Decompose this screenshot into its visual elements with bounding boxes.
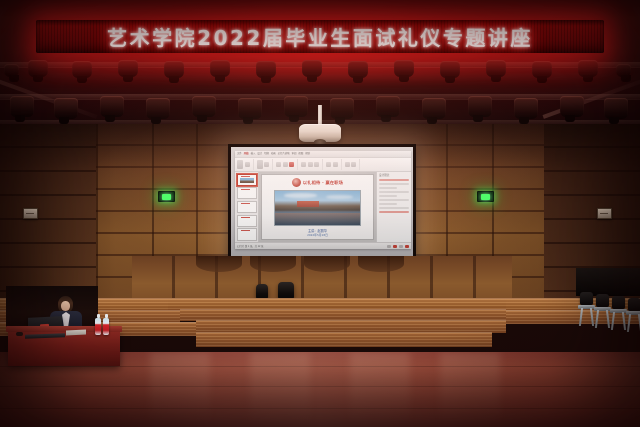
exit-sign-right xyxy=(477,191,494,202)
pane-item[interactable] xyxy=(379,199,409,201)
auditorium-scene: 艺术学院2022届毕业生面试礼仪专题讲座 文件 xyxy=(0,0,640,427)
stage-light-icon xyxy=(330,98,354,119)
stage-light-icon xyxy=(604,98,628,119)
slide-thumbnail[interactable] xyxy=(237,174,257,186)
floor-reflection xyxy=(440,352,500,427)
floor-reflection xyxy=(350,352,410,427)
stage-light-icon xyxy=(192,96,216,117)
tab-insert[interactable]: 插入 xyxy=(251,151,256,157)
cut-icon[interactable] xyxy=(245,162,250,167)
tab-slideshow[interactable]: 幻灯片放映 xyxy=(278,151,290,157)
pane-item[interactable] xyxy=(379,203,397,205)
tab-design[interactable]: 设计 xyxy=(257,151,262,157)
plate-slot xyxy=(26,213,34,214)
ribbon-group-font xyxy=(276,159,298,170)
slide-thumbnail[interactable] xyxy=(237,215,257,227)
floor-seam xyxy=(0,366,640,367)
stage-light-icon xyxy=(560,96,584,117)
stage-light-icon xyxy=(284,96,308,117)
thumbnail-title-line xyxy=(241,203,250,204)
find-icon[interactable] xyxy=(345,162,350,167)
ribbon-group-clipboard xyxy=(237,159,254,170)
stage-light-icon xyxy=(54,98,78,119)
thumbnail-title-line xyxy=(241,217,250,218)
stage-light-icon xyxy=(440,61,460,78)
chair[interactable] xyxy=(610,296,627,330)
new-slide-icon[interactable] xyxy=(257,160,263,169)
led-banner: 艺术学院2022届毕业生面试礼仪专题讲座 xyxy=(36,20,604,53)
thumbnail-title-line xyxy=(241,230,250,231)
thumbnail-image xyxy=(240,178,254,183)
stage-light-icon xyxy=(348,61,368,78)
slideshow-view-icon[interactable] xyxy=(393,245,397,248)
wall-seam xyxy=(96,124,98,304)
stage-step xyxy=(196,332,492,347)
presenter-mouse[interactable] xyxy=(16,332,23,336)
stage-arch-shadow xyxy=(358,256,404,272)
chair-leg xyxy=(611,312,615,330)
tab-view[interactable]: 视图 xyxy=(298,151,303,157)
slide-editing-area[interactable]: 以礼相待 · 赢在职场 主讲：赵丽华 2022年5月18日 xyxy=(259,172,376,242)
slide-photo xyxy=(274,190,360,226)
exit-sign-glow-icon xyxy=(481,194,490,200)
paste-icon[interactable] xyxy=(237,160,243,169)
presenter-documents xyxy=(66,329,86,335)
pane-item[interactable] xyxy=(379,187,397,189)
presenter-face xyxy=(61,301,70,311)
design-ideas-pane[interactable]: 设计理念 xyxy=(376,172,411,242)
chair-leg xyxy=(595,310,599,328)
tab-help[interactable]: 帮助 xyxy=(305,151,310,157)
bold-icon[interactable] xyxy=(276,162,281,167)
water-bottle xyxy=(95,318,101,335)
current-slide[interactable]: 以礼相待 · 赢在职场 主讲：赵丽华 2022年5月18日 xyxy=(261,174,374,240)
stage-light-icon xyxy=(616,64,631,77)
stage-light-icon xyxy=(486,60,506,77)
floor-seam xyxy=(0,386,640,387)
chair[interactable] xyxy=(578,292,595,326)
cloud-shape xyxy=(284,193,318,198)
pane-item[interactable] xyxy=(379,207,409,209)
shapes-icon[interactable] xyxy=(326,162,331,167)
stage-light-icon xyxy=(532,61,552,78)
pane-title: 设计理念 xyxy=(379,174,409,177)
stage-arch-shadow xyxy=(304,256,350,272)
ribbon-group-slides xyxy=(257,159,274,170)
slide-thumbnail-panel[interactable] xyxy=(235,172,259,242)
powerpoint-ribbon-tabs: 文件 开始 插入 设计 切换 动画 幻灯片放映 审阅 视图 帮助 xyxy=(235,151,411,158)
stage-light-icon xyxy=(376,96,400,117)
ribbon-group-paragraph xyxy=(301,159,323,170)
exit-sign-left xyxy=(158,191,175,202)
stage-light-icon xyxy=(10,96,34,117)
screen-surface: 文件 开始 插入 设计 切换 动画 幻灯片放映 审阅 视图 帮助 xyxy=(231,147,413,259)
stage-light-icon xyxy=(238,98,262,119)
stage-light-icon xyxy=(28,60,48,77)
chair-back xyxy=(580,292,593,305)
powerpoint-window: 文件 开始 插入 设计 切换 动画 幻灯片放映 审阅 视图 帮助 xyxy=(235,151,411,249)
powerpoint-ribbon xyxy=(235,158,411,172)
wall-control-plate-right[interactable] xyxy=(597,208,612,219)
stage-light-icon xyxy=(100,96,124,117)
water-reflection xyxy=(275,213,359,225)
layout-icon[interactable] xyxy=(264,162,269,167)
stage-light-icon xyxy=(302,60,322,77)
pane-item[interactable] xyxy=(379,211,409,213)
stage-arch-shadow xyxy=(250,256,296,272)
left-side-wall xyxy=(0,124,96,304)
plate-slot xyxy=(600,213,608,214)
powerpoint-body: 以礼相待 · 赢在职场 主讲：赵丽华 2022年5月18日 xyxy=(235,172,411,242)
numbering-icon[interactable] xyxy=(314,162,319,167)
thumbnail-title-line xyxy=(241,176,250,177)
building-shape xyxy=(297,201,319,206)
stage-light-icon xyxy=(4,64,19,77)
wall-control-plate-left[interactable] xyxy=(23,208,38,219)
stage-light-icon xyxy=(118,60,138,77)
thumbnail-title-line xyxy=(241,189,250,190)
slide-title-row: 以礼相待 · 赢在职场 xyxy=(266,178,368,187)
stage-light-icon xyxy=(578,60,598,77)
stage-light-icon xyxy=(514,98,538,119)
chair-leg xyxy=(579,308,583,326)
italic-icon[interactable] xyxy=(283,162,288,167)
tab-transitions[interactable]: 切换 xyxy=(264,151,269,157)
stage-light-icon xyxy=(72,61,92,78)
stage-light-icon xyxy=(210,60,230,77)
institution-seal-icon xyxy=(292,178,301,187)
water-bottle xyxy=(103,318,109,335)
slide-thumbnail[interactable] xyxy=(237,201,257,213)
align-left-icon[interactable] xyxy=(301,162,306,167)
chair[interactable] xyxy=(594,294,611,328)
floor-reflection xyxy=(250,352,310,427)
projection-screen: 文件 开始 插入 设计 切换 动画 幻灯片放映 审阅 视图 帮助 xyxy=(228,144,416,262)
ribbon-group-editing xyxy=(345,159,361,170)
status-bar-controls xyxy=(387,245,409,248)
slide-thumbnail[interactable] xyxy=(237,228,257,240)
pane-item[interactable] xyxy=(379,179,409,181)
normal-view-icon[interactable] xyxy=(387,245,391,248)
exit-sign-glow-icon xyxy=(162,194,171,200)
reading-view-icon[interactable] xyxy=(399,245,403,248)
tab-file[interactable]: 文件 xyxy=(237,151,242,157)
stage-light-icon xyxy=(256,61,276,78)
slide-title-text: 以礼相待 · 赢在职场 xyxy=(303,180,343,186)
led-banner-text: 艺术学院2022届毕业生面试礼仪专题讲座 xyxy=(107,22,533,51)
chair[interactable] xyxy=(626,298,640,332)
stage-arch-shadow xyxy=(196,256,242,272)
tab-review[interactable]: 审阅 xyxy=(292,151,297,157)
font-color-icon[interactable] xyxy=(289,162,294,167)
pane-item[interactable] xyxy=(379,191,409,193)
floor-reflection xyxy=(150,352,210,427)
stage-light-icon xyxy=(468,96,492,117)
chair-leg xyxy=(627,314,631,332)
slide-date-text: 2022年5月18日 xyxy=(307,233,328,237)
tab-animations[interactable]: 动画 xyxy=(271,151,276,157)
ribbon-group-drawing xyxy=(326,159,342,170)
arrange-icon[interactable] xyxy=(333,162,338,167)
powerpoint-status-bar: 幻灯片 第 1 张，共 12 张 xyxy=(235,242,411,249)
slide-counter: 幻灯片 第 1 张，共 12 张 xyxy=(237,244,263,248)
stage-light-icon xyxy=(146,98,170,119)
floor-seam xyxy=(0,408,640,409)
zoom-level-control[interactable] xyxy=(405,245,409,248)
chair-back xyxy=(628,298,640,311)
select-icon[interactable] xyxy=(351,162,356,167)
slide-thumbnail[interactable] xyxy=(237,187,257,199)
stage-light-icon xyxy=(394,60,414,77)
bullets-icon[interactable] xyxy=(308,162,313,167)
ceiling-projector xyxy=(299,124,341,142)
stage-light-icon xyxy=(164,61,184,78)
chair-back xyxy=(612,296,625,309)
pane-item[interactable] xyxy=(379,183,409,185)
stage-light-icon xyxy=(422,98,446,119)
cloud-shape xyxy=(326,195,353,199)
tab-home[interactable]: 开始 xyxy=(244,151,249,157)
chair-back xyxy=(596,294,609,307)
pane-item[interactable] xyxy=(379,195,397,197)
